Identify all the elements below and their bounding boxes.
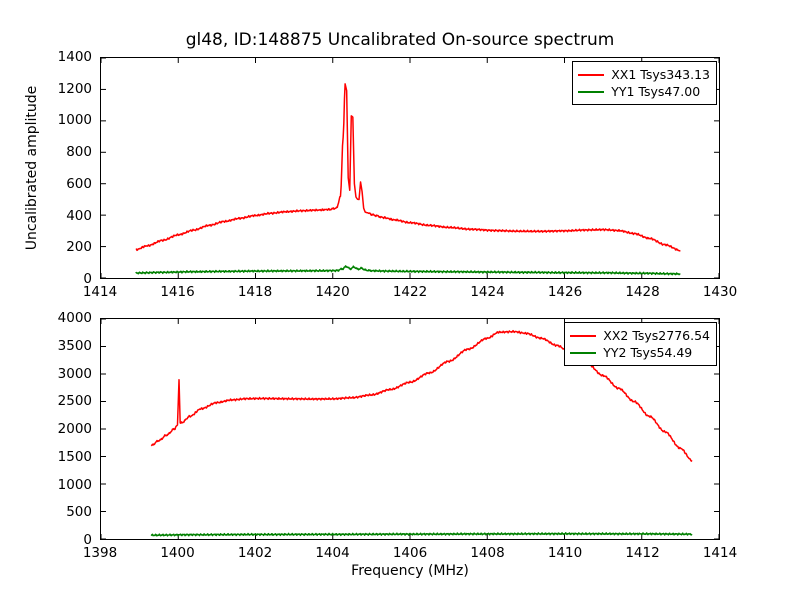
x-tick-label: 1404: [315, 545, 349, 561]
y-tick-label: 200: [44, 239, 92, 255]
legend-label: XX1 Tsys343.13: [611, 67, 710, 82]
x-tick-label: 1412: [625, 545, 659, 561]
x-axis-label-bottom: Frequency (MHz): [100, 563, 720, 579]
legend-bottom: XX2 Tsys2776.54YY2 Tsys54.49: [564, 322, 717, 366]
figure-canvas: gl48, ID:148875 Uncalibrated On-source s…: [0, 0, 800, 600]
legend-entry: XX1 Tsys343.13: [578, 66, 710, 83]
y-tick-label: 3000: [44, 366, 92, 382]
legend-line-swatch-icon: [570, 352, 596, 354]
y-tick-label: 3500: [44, 338, 92, 354]
legend-top: XX1 Tsys343.13YY1 Tsys47.00: [572, 61, 717, 105]
x-tick-label: 1406: [393, 545, 427, 561]
data-series-yy: [136, 266, 681, 275]
x-tick-label: 1420: [315, 284, 349, 300]
legend-label: YY1 Tsys47.00: [611, 84, 700, 99]
y-axis-label-top: Uncalibrated amplitude: [24, 53, 40, 283]
y-tick-label: 400: [44, 208, 92, 224]
y-tick-label: 4000: [44, 310, 92, 326]
x-tick-label: 1400: [160, 545, 194, 561]
x-tick-label: 1414: [83, 284, 117, 300]
legend-entry: YY2 Tsys54.49: [570, 344, 710, 361]
figure-title: gl48, ID:148875 Uncalibrated On-source s…: [0, 30, 800, 50]
x-tick-label: 1410: [548, 545, 582, 561]
x-tick-label: 1426: [548, 284, 582, 300]
y-tick-label: 1000: [44, 477, 92, 493]
legend-line-swatch-icon: [578, 74, 604, 76]
y-tick-label: 500: [44, 504, 92, 520]
x-tick-label: 1408: [470, 545, 504, 561]
y-tick-label: 2000: [44, 421, 92, 437]
y-tick-label: 800: [44, 144, 92, 160]
legend-label: XX2 Tsys2776.54: [603, 328, 710, 343]
y-tick-label: 600: [44, 176, 92, 192]
legend-entry: YY1 Tsys47.00: [578, 83, 710, 100]
x-tick-label: 1422: [393, 284, 427, 300]
y-tick-label: 1400: [44, 49, 92, 65]
y-tick-label: 1200: [44, 81, 92, 97]
x-tick-label: 1428: [625, 284, 659, 300]
legend-line-swatch-icon: [570, 335, 596, 337]
y-tick-label: 2500: [44, 393, 92, 409]
x-tick-label: 1402: [238, 545, 272, 561]
x-tick-label: 1424: [470, 284, 504, 300]
data-series-yy: [151, 533, 692, 536]
x-tick-label: 1398: [83, 545, 117, 561]
y-tick-label: 1500: [44, 449, 92, 465]
legend-entry: XX2 Tsys2776.54: [570, 327, 710, 344]
legend-line-swatch-icon: [578, 91, 604, 93]
y-tick-label: 1000: [44, 112, 92, 128]
x-tick-label: 1430: [703, 284, 737, 300]
x-tick-label: 1414: [703, 545, 737, 561]
data-series-xx: [136, 84, 681, 251]
x-tick-label: 1418: [238, 284, 272, 300]
legend-label: YY2 Tsys54.49: [603, 345, 692, 360]
x-tick-label: 1416: [160, 284, 194, 300]
